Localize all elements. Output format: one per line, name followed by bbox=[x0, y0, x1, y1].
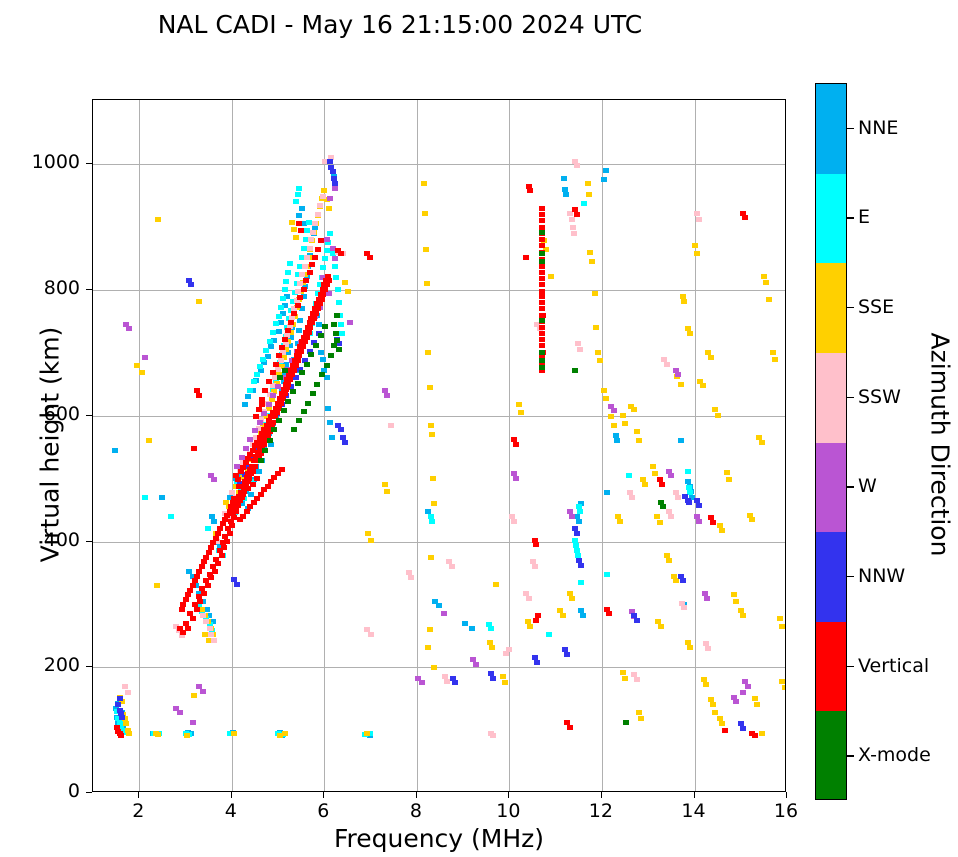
echo-marker-vertical bbox=[256, 407, 262, 412]
echo-marker-vertical bbox=[258, 492, 264, 497]
echo-marker-ssw bbox=[681, 605, 687, 610]
colorbar-title: Azimuth Direction bbox=[926, 145, 955, 745]
echo-marker-sse bbox=[631, 407, 637, 412]
echo-marker-e bbox=[247, 388, 253, 393]
echo-marker-nne bbox=[245, 394, 251, 399]
echo-marker-vertical bbox=[539, 237, 545, 242]
echo-marker-e bbox=[324, 248, 330, 253]
echo-marker-vertical bbox=[326, 278, 332, 283]
echo-marker-nne bbox=[276, 329, 282, 334]
echo-marker-nne bbox=[576, 519, 582, 524]
echo-marker-vertical bbox=[295, 358, 301, 363]
echo-marker-vertical bbox=[279, 467, 285, 472]
echo-marker-x-mode bbox=[304, 362, 310, 367]
echo-marker-sse bbox=[603, 396, 609, 401]
echo-marker-sse bbox=[429, 432, 435, 437]
echo-marker-nnw bbox=[696, 503, 702, 508]
echo-marker-vertical bbox=[313, 311, 319, 316]
echo-marker-ssw bbox=[629, 495, 635, 500]
echo-marker-sse bbox=[500, 674, 506, 679]
echo-marker-vertical bbox=[291, 368, 297, 373]
echo-marker-vertical bbox=[710, 520, 716, 525]
echo-marker-vertical bbox=[295, 303, 301, 308]
echo-marker-e bbox=[578, 580, 584, 585]
echo-marker-vertical bbox=[229, 523, 235, 528]
y-axis-label: Virtual height (km) bbox=[36, 95, 65, 795]
echo-marker-ssw bbox=[368, 632, 374, 637]
colorbar-tick bbox=[847, 576, 854, 577]
colorbar bbox=[815, 83, 847, 800]
echo-marker-sse bbox=[548, 274, 554, 279]
echo-marker-sse bbox=[424, 281, 430, 286]
echo-marker-sse bbox=[593, 325, 599, 330]
colorbar-tick bbox=[847, 307, 854, 308]
echo-marker-sse bbox=[231, 731, 237, 736]
echo-marker-sse bbox=[694, 251, 700, 256]
echo-marker-nnw bbox=[327, 159, 333, 164]
echo-marker-vertical bbox=[306, 330, 312, 335]
echo-marker-x-mode bbox=[333, 331, 339, 336]
echo-marker-x-mode bbox=[539, 230, 545, 235]
echo-marker-e bbox=[251, 379, 257, 384]
echo-marker-sse bbox=[752, 696, 758, 701]
echo-marker-vertical bbox=[185, 626, 191, 631]
colorbar-segment-w bbox=[816, 443, 846, 533]
echo-marker-e bbox=[295, 192, 301, 197]
echo-marker-vertical bbox=[293, 363, 299, 368]
echo-marker-e bbox=[604, 572, 610, 577]
echo-marker-vertical bbox=[196, 393, 202, 398]
echo-marker-ssw bbox=[696, 217, 702, 222]
echo-marker-nne bbox=[296, 213, 302, 218]
echo-marker-vertical bbox=[539, 243, 545, 248]
echo-marker-ssw bbox=[503, 651, 509, 656]
echo-marker-e bbox=[546, 632, 552, 637]
echo-marker-vertical bbox=[179, 607, 185, 612]
x-tick-label: 4 bbox=[201, 800, 261, 822]
x-tick-label: 16 bbox=[756, 800, 816, 822]
echo-marker-vertical bbox=[194, 607, 200, 612]
echo-marker-x-mode bbox=[331, 343, 337, 348]
echo-marker-sse bbox=[493, 582, 499, 587]
echo-marker-sse bbox=[146, 438, 152, 443]
echo-marker-vertical bbox=[197, 599, 203, 604]
echo-marker-x-mode bbox=[539, 318, 545, 323]
echo-marker-sse bbox=[692, 243, 698, 248]
echo-marker-w bbox=[347, 320, 353, 325]
echo-marker-nnw bbox=[574, 531, 580, 536]
echo-marker-nne bbox=[462, 621, 468, 626]
echo-marker-vertical bbox=[315, 247, 321, 252]
echo-marker-vertical bbox=[567, 725, 573, 730]
colorbar-label-e: E bbox=[858, 206, 870, 228]
echo-marker-w bbox=[270, 393, 276, 398]
echo-marker-vertical bbox=[319, 297, 325, 302]
colorbar-tick bbox=[847, 666, 854, 667]
echo-marker-sse bbox=[724, 470, 730, 475]
echo-marker-e bbox=[273, 321, 279, 326]
echo-marker-ssw bbox=[320, 194, 326, 199]
echo-marker-vertical bbox=[523, 255, 529, 260]
scatter-data-layer bbox=[93, 100, 785, 791]
echo-marker-nne bbox=[325, 406, 331, 411]
echo-marker-vertical bbox=[287, 377, 293, 382]
echo-marker-sse bbox=[431, 501, 437, 506]
echo-marker-sse bbox=[622, 676, 628, 681]
echo-marker-nne bbox=[256, 469, 262, 474]
echo-marker-vertical bbox=[276, 353, 282, 358]
echo-marker-vertical bbox=[244, 509, 250, 514]
echo-marker-sse bbox=[191, 693, 197, 698]
echo-marker-sse bbox=[368, 538, 374, 543]
echo-marker-e bbox=[336, 300, 342, 305]
echo-marker-vertical bbox=[606, 611, 612, 616]
echo-marker-vertical bbox=[539, 206, 545, 211]
echo-marker-vertical bbox=[235, 477, 241, 482]
echo-marker-sse bbox=[763, 280, 769, 285]
echo-marker-e bbox=[285, 270, 291, 275]
echo-marker-vertical bbox=[315, 306, 321, 311]
echo-marker-vertical bbox=[201, 591, 207, 596]
echo-marker-sse bbox=[666, 558, 672, 563]
echo-marker-sse bbox=[430, 476, 436, 481]
echo-marker-w bbox=[668, 473, 674, 478]
echo-marker-vertical bbox=[533, 618, 539, 623]
echo-marker-sse bbox=[777, 616, 783, 621]
echo-marker-sse bbox=[345, 289, 351, 294]
echo-marker-vertical bbox=[212, 569, 218, 574]
echo-marker-sse bbox=[715, 413, 721, 418]
echo-marker-w bbox=[200, 689, 206, 694]
echo-marker-w bbox=[142, 355, 148, 360]
colorbar-segment-e bbox=[816, 174, 846, 264]
echo-marker-e bbox=[581, 201, 587, 206]
echo-marker-ssw bbox=[675, 495, 681, 500]
echo-marker-vertical bbox=[270, 410, 276, 415]
colorbar-label-nnw: NNW bbox=[858, 565, 905, 587]
echo-marker-sse bbox=[617, 519, 623, 524]
echo-marker-ssw bbox=[122, 684, 128, 689]
echo-marker-x-mode bbox=[318, 333, 324, 338]
echo-marker-sse bbox=[489, 645, 495, 650]
colorbar-segment-x-mode bbox=[816, 711, 846, 800]
echo-marker-w bbox=[733, 699, 739, 704]
echo-marker-sse bbox=[586, 192, 592, 197]
echo-marker-vertical bbox=[309, 320, 315, 325]
echo-marker-nne bbox=[603, 168, 609, 173]
echo-marker-vertical bbox=[539, 282, 545, 287]
colorbar-label-sse: SSE bbox=[858, 296, 894, 318]
echo-marker-ssw bbox=[317, 203, 323, 208]
echo-marker-ssw bbox=[388, 423, 394, 428]
echo-marker-nne bbox=[561, 176, 567, 181]
echo-marker-sse bbox=[569, 596, 575, 601]
echo-marker-sse bbox=[652, 471, 658, 476]
echo-marker-x-mode bbox=[313, 343, 319, 348]
echo-marker-vertical bbox=[261, 427, 267, 432]
echo-marker-vertical bbox=[233, 509, 239, 514]
echo-marker-e bbox=[260, 357, 266, 362]
echo-marker-sse bbox=[634, 429, 640, 434]
echo-marker-nne bbox=[299, 206, 305, 211]
colorbar-segment-nnw bbox=[816, 532, 846, 622]
echo-marker-sse bbox=[382, 482, 388, 487]
echo-marker-e bbox=[577, 509, 583, 514]
echo-marker-w bbox=[740, 690, 746, 695]
echo-marker-w bbox=[332, 256, 338, 261]
echo-marker-x-mode bbox=[334, 313, 340, 318]
echo-marker-sse bbox=[427, 627, 433, 632]
echo-marker-x-mode bbox=[336, 347, 342, 352]
echo-marker-x-mode bbox=[291, 427, 297, 432]
echo-marker-w bbox=[611, 408, 617, 413]
echo-marker-vertical bbox=[240, 492, 246, 497]
echo-marker-e bbox=[304, 228, 310, 233]
echo-marker-nne bbox=[604, 490, 610, 495]
echo-marker-vertical bbox=[312, 255, 318, 260]
echo-marker-ssw bbox=[511, 519, 517, 524]
echo-marker-vertical bbox=[205, 583, 211, 588]
echo-marker-sse bbox=[731, 592, 737, 597]
x-tick bbox=[323, 792, 324, 798]
colorbar-label-nne: NNE bbox=[858, 117, 898, 139]
echo-marker-sse bbox=[754, 702, 760, 707]
echo-marker-vertical bbox=[722, 728, 728, 733]
echo-marker-sse bbox=[782, 685, 786, 690]
echo-marker-sse bbox=[560, 613, 566, 618]
echo-marker-sse bbox=[518, 410, 524, 415]
echo-marker-x-mode bbox=[305, 401, 311, 406]
echo-marker-vertical bbox=[296, 353, 302, 358]
x-tick bbox=[138, 792, 139, 798]
echo-marker-x-mode bbox=[314, 382, 320, 387]
echo-marker-vertical bbox=[250, 469, 256, 474]
echo-marker-nnw bbox=[188, 282, 194, 287]
echo-marker-ssw bbox=[125, 690, 131, 695]
echo-marker-sse bbox=[700, 383, 706, 388]
echo-marker-vertical bbox=[539, 325, 545, 330]
echo-marker-sse bbox=[638, 716, 644, 721]
echo-marker-sse bbox=[772, 357, 778, 362]
echo-marker-e bbox=[280, 296, 286, 301]
echo-marker-vertical bbox=[236, 484, 242, 489]
echo-marker-w bbox=[243, 446, 249, 451]
echo-marker-vertical bbox=[533, 542, 539, 547]
x-axis-label: Frequency (MHz) bbox=[92, 824, 786, 853]
echo-marker-vertical bbox=[253, 414, 259, 419]
echo-marker-x-mode bbox=[310, 391, 316, 396]
echo-marker-sse bbox=[428, 555, 434, 560]
echo-marker-sse bbox=[601, 388, 607, 393]
echo-marker-sse bbox=[139, 370, 145, 375]
echo-marker-e bbox=[283, 279, 289, 284]
echo-marker-nne bbox=[318, 350, 324, 355]
echo-marker-vertical bbox=[297, 295, 303, 300]
echo-marker-w bbox=[247, 437, 253, 442]
x-tick-label: 2 bbox=[108, 800, 168, 822]
colorbar-label-ssw: SSW bbox=[858, 386, 901, 408]
colorbar-segment-sse bbox=[816, 263, 846, 353]
echo-marker-vertical bbox=[247, 452, 253, 457]
echo-marker-sse bbox=[712, 407, 718, 412]
echo-marker-x-mode bbox=[290, 389, 296, 394]
echo-marker-e bbox=[205, 526, 211, 531]
echo-marker-e bbox=[287, 261, 293, 266]
echo-marker-w bbox=[696, 519, 702, 524]
echo-marker-vertical bbox=[254, 476, 260, 481]
echo-marker-vertical bbox=[219, 553, 225, 558]
echo-marker-sse bbox=[282, 731, 288, 736]
x-tick-label: 14 bbox=[664, 800, 724, 822]
echo-marker-nnw bbox=[332, 181, 338, 186]
echo-marker-vertical bbox=[270, 370, 276, 375]
echo-marker-e bbox=[254, 372, 260, 377]
echo-marker-sse bbox=[779, 624, 785, 629]
echo-marker-x-mode bbox=[331, 322, 337, 327]
echo-marker-sse bbox=[678, 382, 684, 387]
echo-marker-ssw bbox=[577, 347, 583, 352]
echo-marker-x-mode bbox=[276, 418, 282, 423]
y-tick bbox=[86, 163, 92, 164]
echo-marker-nnw bbox=[634, 618, 640, 623]
echo-marker-vertical bbox=[254, 440, 260, 445]
echo-marker-vertical bbox=[266, 379, 272, 384]
echo-marker-nne bbox=[327, 420, 333, 425]
echo-marker-x-mode bbox=[262, 448, 268, 453]
echo-marker-x-mode bbox=[660, 504, 666, 509]
echo-marker-sse bbox=[502, 680, 508, 685]
echo-marker-sse bbox=[770, 350, 776, 355]
echo-marker-vertical bbox=[539, 343, 545, 348]
echo-marker-vertical bbox=[338, 251, 344, 256]
echo-marker-sse bbox=[611, 423, 617, 428]
echo-marker-x-mode bbox=[282, 368, 288, 373]
echo-marker-sse bbox=[134, 363, 140, 368]
echo-marker-x-mode bbox=[301, 409, 307, 414]
echo-marker-sse bbox=[687, 645, 693, 650]
echo-marker-nne bbox=[186, 569, 192, 574]
echo-marker-w bbox=[177, 710, 183, 715]
echo-marker-vertical bbox=[282, 389, 288, 394]
echo-marker-sse bbox=[608, 414, 614, 419]
echo-marker-nnw bbox=[330, 169, 336, 174]
echo-marker-vertical bbox=[215, 561, 221, 566]
echo-marker-e bbox=[282, 287, 288, 292]
x-tick-label: 10 bbox=[478, 800, 538, 822]
echo-marker-vertical bbox=[285, 328, 291, 333]
echo-marker-w bbox=[332, 186, 338, 191]
echo-marker-sse bbox=[622, 421, 628, 426]
echo-marker-ssw bbox=[208, 632, 214, 637]
echo-marker-sse bbox=[289, 220, 295, 225]
echo-marker-sse bbox=[421, 181, 427, 186]
echo-marker-x-mode bbox=[285, 399, 291, 404]
echo-marker-w bbox=[675, 372, 681, 377]
echo-marker-nne bbox=[316, 322, 322, 327]
echo-marker-vertical bbox=[322, 287, 328, 292]
echo-marker-w bbox=[441, 611, 447, 616]
colorbar-tick bbox=[847, 128, 854, 129]
echo-marker-vertical bbox=[307, 270, 313, 275]
echo-marker-nne bbox=[297, 318, 303, 323]
echo-marker-sse bbox=[740, 613, 746, 618]
echo-marker-vertical bbox=[367, 255, 373, 260]
colorbar-segment-vertical bbox=[816, 622, 846, 712]
echo-marker-vertical bbox=[317, 301, 323, 306]
echo-marker-vertical bbox=[311, 316, 317, 321]
echo-marker-vertical bbox=[539, 276, 545, 281]
echo-marker-vertical bbox=[539, 270, 545, 275]
echo-marker-sse bbox=[123, 721, 129, 726]
echo-marker-sse bbox=[425, 350, 431, 355]
echo-marker-e bbox=[335, 287, 341, 292]
echo-marker-ssw bbox=[315, 212, 321, 217]
echo-marker-x-mode bbox=[296, 418, 302, 423]
echo-marker-nne bbox=[329, 435, 335, 440]
echo-marker-sse bbox=[650, 464, 656, 469]
echo-marker-w bbox=[569, 514, 575, 519]
echo-marker-sse bbox=[733, 599, 739, 604]
echo-marker-vertical bbox=[296, 221, 302, 226]
echo-marker-vertical bbox=[240, 465, 246, 470]
echo-marker-sse bbox=[425, 645, 431, 650]
y-tick bbox=[86, 666, 92, 667]
echo-marker-sse bbox=[384, 489, 390, 494]
echo-marker-x-mode bbox=[623, 720, 629, 725]
x-tick-label: 8 bbox=[386, 800, 446, 822]
echo-marker-sse bbox=[766, 297, 772, 302]
echo-marker-sse bbox=[759, 440, 765, 445]
echo-marker-nnw bbox=[452, 680, 458, 685]
echo-marker-nne bbox=[242, 402, 248, 407]
echo-marker-x-mode bbox=[539, 350, 545, 355]
echo-marker-nne bbox=[112, 448, 118, 453]
echo-marker-sse bbox=[155, 217, 161, 222]
y-tick bbox=[86, 792, 92, 793]
echo-marker-nnw bbox=[338, 427, 344, 432]
echo-marker-x-mode bbox=[281, 408, 287, 413]
echo-marker-e bbox=[327, 231, 333, 236]
echo-marker-nnw bbox=[740, 726, 746, 731]
echo-marker-x-mode bbox=[267, 438, 273, 443]
echo-marker-w bbox=[261, 411, 267, 416]
echo-marker-w bbox=[513, 476, 519, 481]
echo-marker-e bbox=[685, 469, 691, 474]
echo-marker-vertical bbox=[303, 278, 309, 283]
echo-marker-sse bbox=[703, 682, 709, 687]
echo-marker-e bbox=[626, 473, 632, 478]
echo-marker-sse bbox=[293, 235, 299, 240]
echo-marker-sse bbox=[719, 721, 725, 726]
echo-marker-vertical bbox=[307, 325, 313, 330]
echo-marker-sse bbox=[184, 733, 190, 738]
echo-marker-vertical bbox=[298, 349, 304, 354]
echo-marker-ssw bbox=[526, 596, 532, 601]
x-tick bbox=[231, 792, 232, 798]
echo-marker-vertical bbox=[275, 402, 281, 407]
echo-marker-vertical bbox=[268, 414, 274, 419]
echo-marker-sse bbox=[527, 624, 533, 629]
echo-marker-vertical bbox=[250, 482, 256, 487]
echo-marker-nnw bbox=[119, 715, 125, 720]
echo-marker-sse bbox=[585, 181, 591, 186]
echo-marker-vertical bbox=[742, 215, 748, 220]
echo-marker-e bbox=[276, 314, 282, 319]
echo-marker-sse bbox=[589, 259, 595, 264]
echo-marker-nne bbox=[469, 626, 475, 631]
echo-marker-vertical bbox=[752, 733, 758, 738]
echo-marker-ssw bbox=[310, 230, 316, 235]
